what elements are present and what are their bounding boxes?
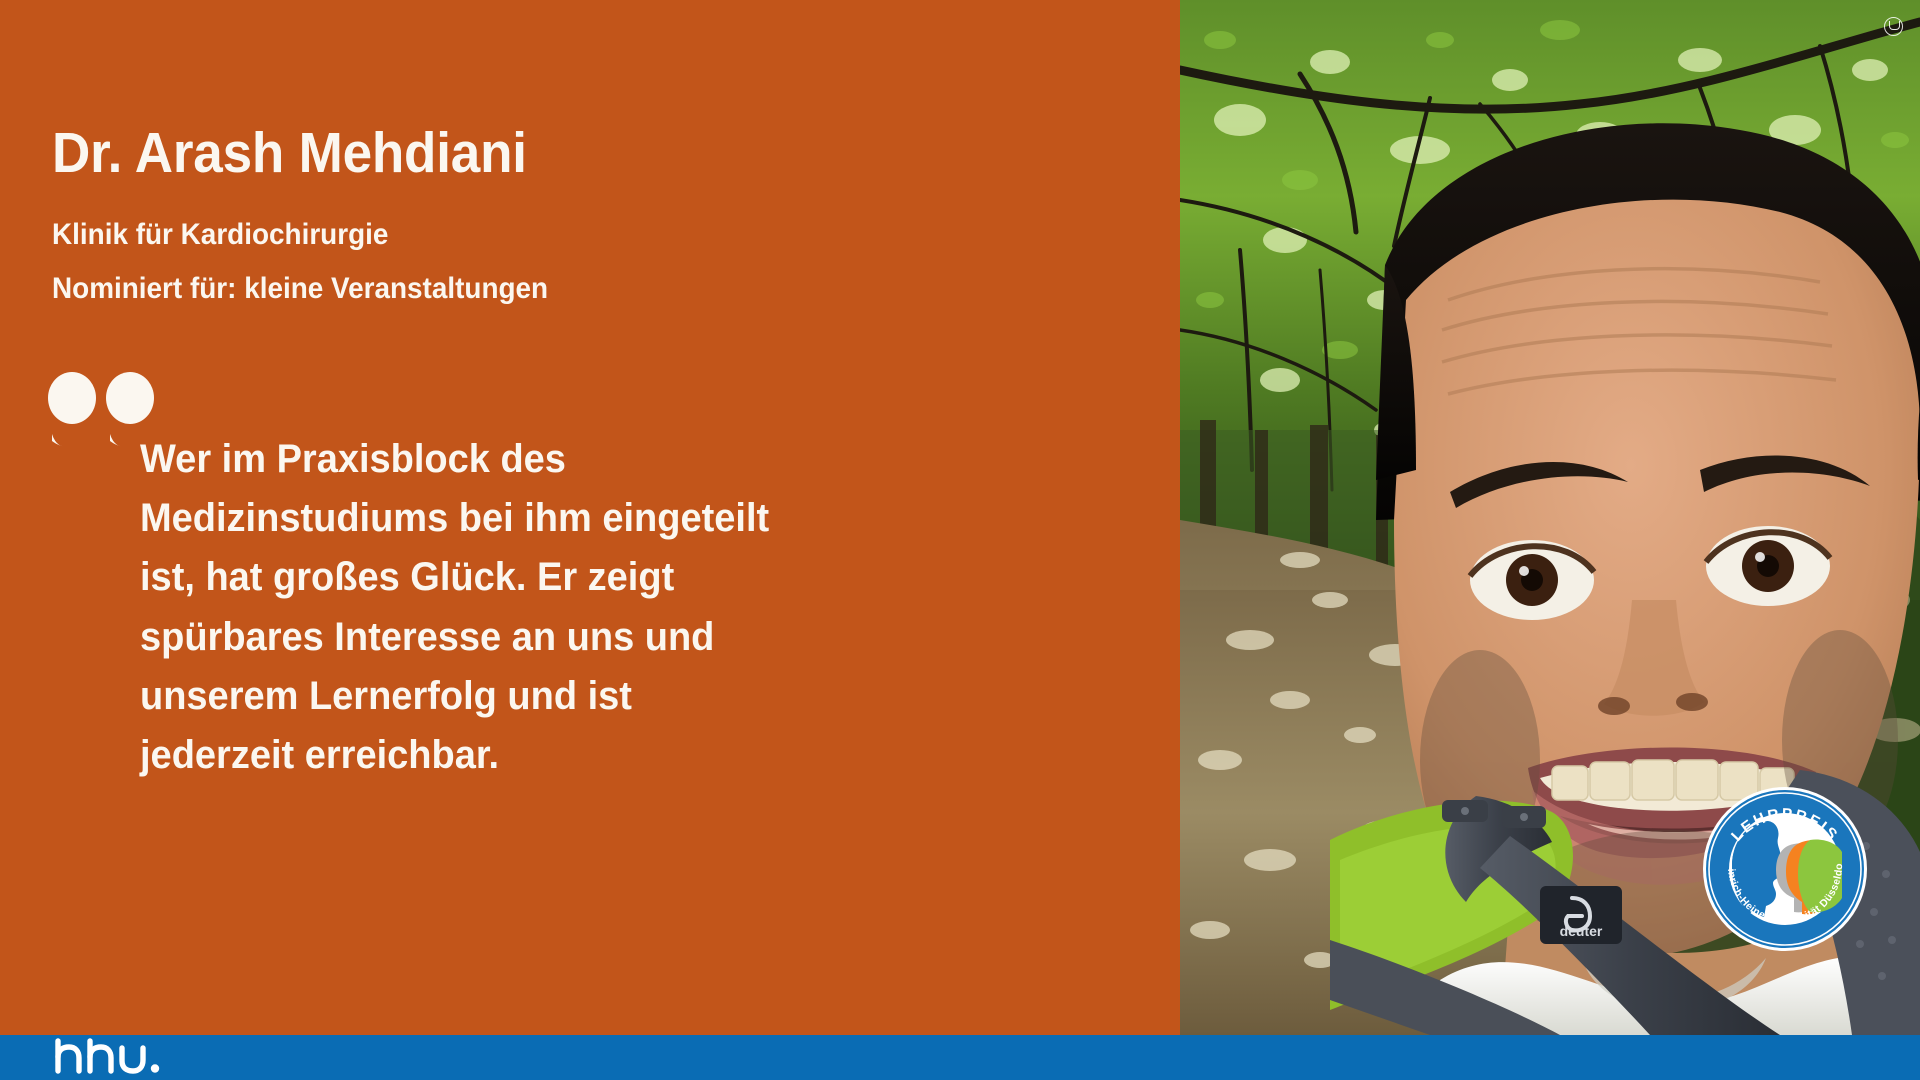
quote-line: spürbares Interesse an uns und (140, 608, 729, 667)
hhu-logo (52, 1037, 172, 1079)
lehrpreis-award-seal: LEHRPREIS Heinrich-Heine-Universität Düs… (1702, 786, 1868, 952)
quote-line: ist, hat großes Glück. Er zeigt (140, 548, 729, 607)
page-title: Dr. Arash Mehdiani (52, 120, 527, 186)
nomination-category-label: Nominiert für: kleine Veranstaltungen (52, 272, 548, 306)
quote-line: unserem Lernerfolg und ist (140, 667, 729, 726)
clinic-label: Klinik für Kardiochirurgie (52, 218, 388, 252)
quote-line: Wer im Praxisblock des (140, 430, 729, 489)
svg-text:deuter: deuter (1560, 923, 1603, 939)
footer-bar (0, 1035, 1920, 1080)
award-nominee-slide: Dr. Arash Mehdiani Klinik für Kardiochir… (0, 0, 1920, 1080)
quote-line: Medizinstudiums bei ihm eingeteilt (140, 489, 729, 548)
quote-line: jederzeit erreichbar. (140, 726, 729, 785)
testimonial-quote: Wer im Praxisblock des Medizinstudiums b… (140, 430, 760, 785)
orange-content-panel: Dr. Arash Mehdiani Klinik für Kardiochir… (0, 0, 1180, 1035)
circle-u-icon (1884, 17, 1903, 36)
